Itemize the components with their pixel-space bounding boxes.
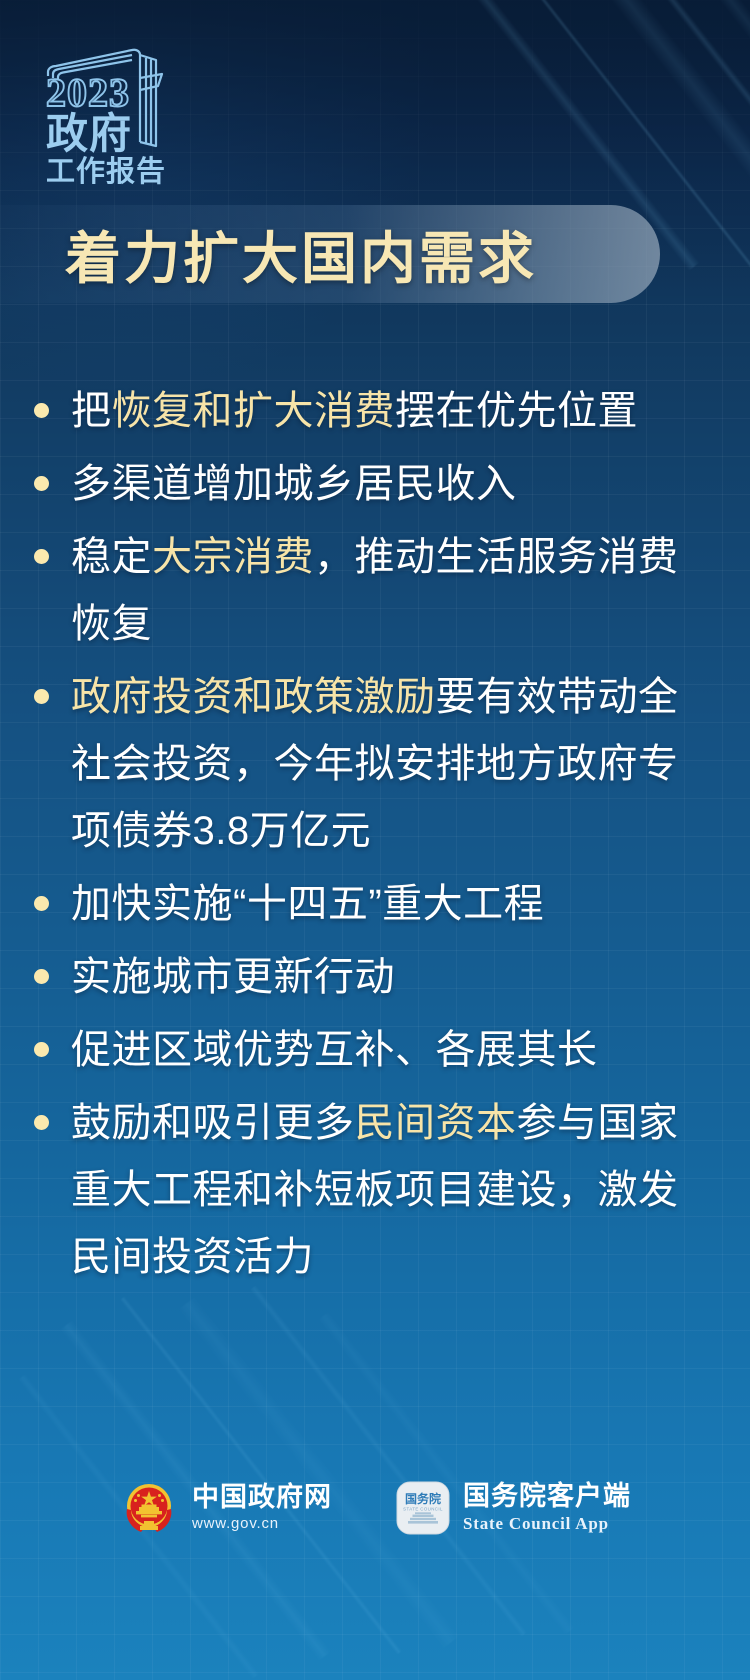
title-banner: 着力扩大国内需求 (0, 205, 660, 303)
bullet-text: 加快实施“十四五”重大工程 (71, 871, 718, 938)
bullet-item: 实施城市更新行动 (34, 944, 718, 1011)
bullet-text: 把恢复和扩大消费摆在优先位置 (71, 378, 718, 445)
bullet-plain-text: 促进区域优势互补、各展其长 (71, 1028, 598, 1072)
bullet-plain-text: 稳定 (71, 535, 152, 579)
bullet-item: 鼓励和吸引更多民间资本参与国家重大工程和补短板项目建设，激发民间投资活力 (34, 1090, 718, 1291)
bullet-item: 多渠道增加城乡居民收入 (34, 451, 718, 518)
bullet-item: 促进区域优势互补、各展其长 (34, 1017, 718, 1084)
bullet-text: 促进区域优势互补、各展其长 (71, 1017, 718, 1084)
china-national-emblem-icon (119, 1478, 179, 1538)
bullet-highlight-text: 大宗消费 (152, 535, 314, 579)
footer-brands: 中国政府网 www.gov.cn 国务院 STATE COUNCIL 国务院客户… (0, 1478, 750, 1538)
bullet-item: 稳定大宗消费，推动生活服务消费恢复 (34, 524, 718, 658)
bullet-text: 实施城市更新行动 (71, 944, 718, 1011)
bullet-text: 政府投资和政策激励要有效带动全社会投资，今年拟安排地方政府专项债券3.8万亿元 (71, 664, 718, 865)
bullet-plain-text: 鼓励和吸引更多 (71, 1101, 355, 1145)
masthead-year: 2023 (46, 70, 130, 115)
poster-root: 2023 政府 工作报告 着力扩大国内需求 把恢复和扩大消费摆在优先位置多渠道增… (0, 0, 750, 1680)
svg-text:STATE COUNCIL: STATE COUNCIL (403, 1506, 443, 1511)
bullet-dot-icon (34, 403, 49, 418)
page-title: 着力扩大国内需求 (65, 214, 537, 295)
bullet-text: 鼓励和吸引更多民间资本参与国家重大工程和补短板项目建设，激发民间投资活力 (71, 1090, 718, 1291)
bullet-highlight-text: 恢复和扩大消费 (112, 389, 396, 433)
bullet-highlight-text: 政府投资和政策激励 (71, 675, 436, 719)
bullet-item: 加快实施“十四五”重大工程 (34, 871, 718, 938)
bullet-plain-text: 多渠道增加城乡居民收入 (71, 462, 517, 506)
bullet-dot-icon (34, 476, 49, 491)
report-masthead-logo: 2023 政府 工作报告 (40, 38, 220, 188)
book-outline-icon: 2023 政府 工作报告 (40, 38, 220, 188)
brand-gov-cn[interactable]: 中国政府网 www.gov.cn (119, 1478, 332, 1538)
bullet-dot-icon (34, 549, 49, 564)
bullet-list: 把恢复和扩大消费摆在优先位置多渠道增加城乡居民收入稳定大宗消费，推动生活服务消费… (34, 378, 718, 1297)
brand-name-gov-cn: 中国政府网 (192, 1482, 332, 1512)
bullet-item: 政府投资和政策激励要有效带动全社会投资，今年拟安排地方政府专项债券3.8万亿元 (34, 664, 718, 865)
bullet-item: 把恢复和扩大消费摆在优先位置 (34, 378, 718, 445)
bullet-dot-icon (34, 689, 49, 704)
bullet-plain-text: 把 (71, 389, 112, 433)
brand-sub-gov-cn: www.gov.cn (192, 1514, 332, 1534)
bullet-plain-text: 摆在优先位置 (395, 389, 638, 433)
bullet-dot-icon (34, 969, 49, 984)
bullet-plain-text: 加快实施“十四五”重大工程 (71, 882, 544, 926)
bullet-dot-icon (34, 1042, 49, 1057)
bullet-text: 稳定大宗消费，推动生活服务消费恢复 (71, 524, 718, 658)
brand-state-council-app[interactable]: 国务院 STATE COUNCIL 国务院客户端 State Council A… (396, 1481, 631, 1535)
bullet-plain-text: 实施城市更新行动 (71, 955, 395, 999)
brand-sub-state-council: State Council App (463, 1513, 631, 1535)
state-council-app-icon: 国务院 STATE COUNCIL (396, 1481, 450, 1535)
svg-text:国务院: 国务院 (405, 1491, 441, 1506)
bullet-dot-icon (34, 896, 49, 911)
masthead-line1: 政府 (46, 110, 132, 157)
bullet-dot-icon (34, 1115, 49, 1130)
brand-name-state-council: 国务院客户端 (463, 1481, 631, 1511)
masthead-line2: 工作报告 (46, 155, 166, 188)
bullet-text: 多渠道增加城乡居民收入 (71, 451, 718, 518)
bullet-highlight-text: 民间资本 (355, 1101, 517, 1145)
